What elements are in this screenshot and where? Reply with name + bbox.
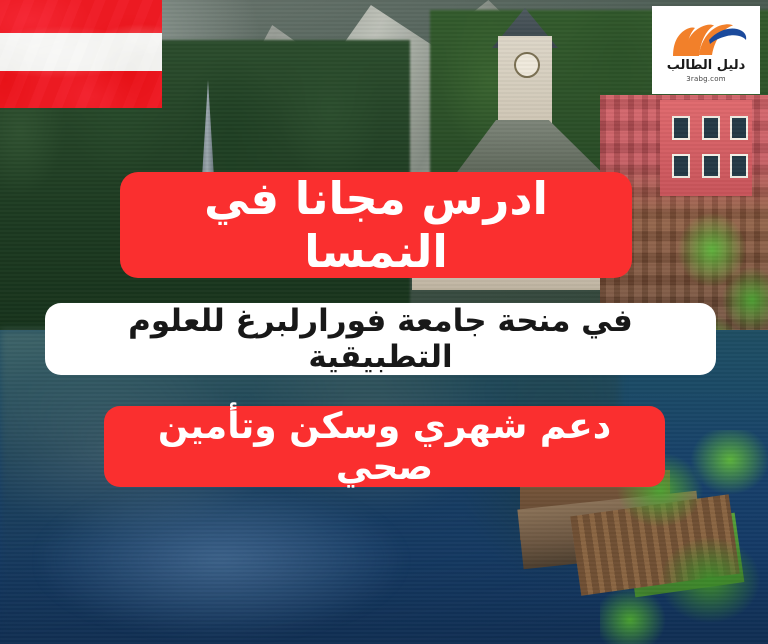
- flag-silk-highlight: [0, 0, 162, 108]
- window: [672, 154, 690, 178]
- window: [730, 116, 748, 140]
- logo-name: دليل الطالب: [667, 59, 746, 72]
- lake-highlight: [40, 470, 460, 644]
- subheadline-banner: في منحة جامعة فورارلبرغ للعلوم التطبيقية: [45, 303, 716, 375]
- window: [672, 116, 690, 140]
- window: [702, 154, 720, 178]
- brand-logo[interactable]: دليل الطالب 3rabg.com: [652, 6, 760, 94]
- window: [702, 116, 720, 140]
- tower-clock-face: [514, 52, 540, 78]
- window: [730, 154, 748, 178]
- poster-canvas: دليل الطالب 3rabg.com ادرس مجانا في النم…: [0, 0, 768, 644]
- logo-url: 3rabg.com: [686, 75, 725, 83]
- logo-swoosh-icon: [663, 18, 749, 58]
- austria-flag: [0, 0, 162, 108]
- benefits-banner: دعم شهري وسكن وتأمين صحي: [104, 406, 665, 487]
- pink-house: [660, 100, 752, 196]
- headline-banner: ادرس مجانا في النمسا: [120, 172, 632, 278]
